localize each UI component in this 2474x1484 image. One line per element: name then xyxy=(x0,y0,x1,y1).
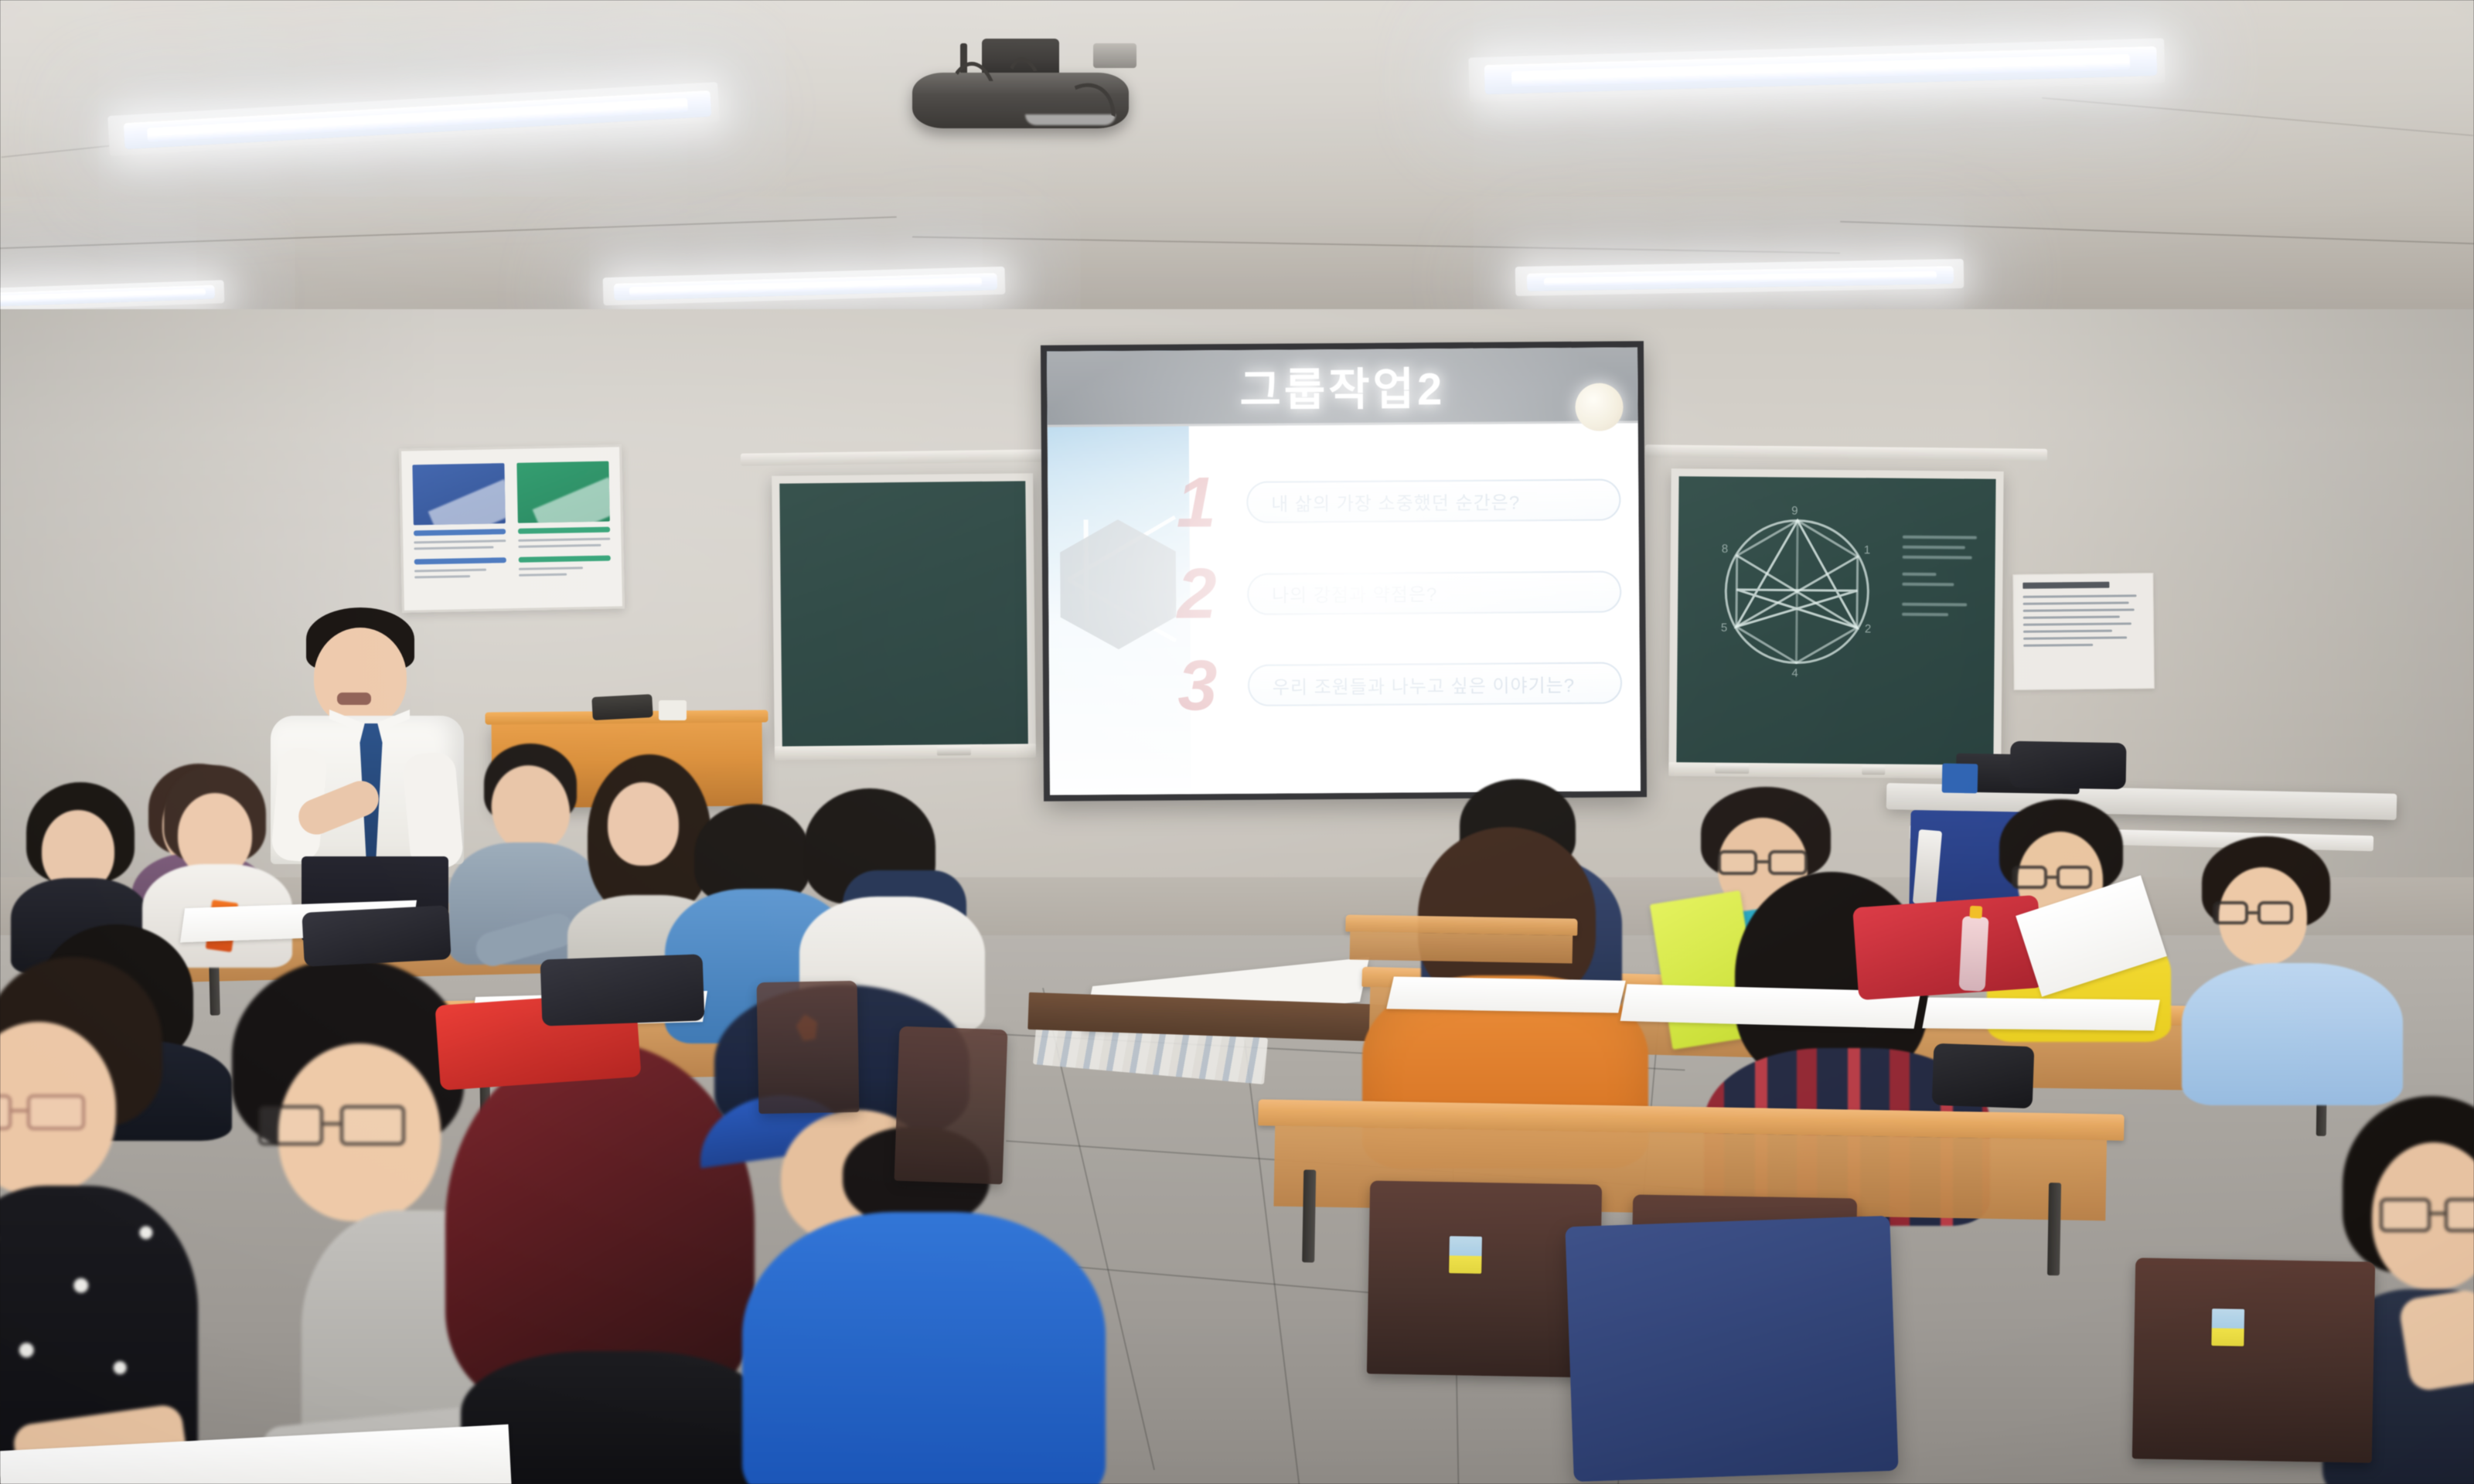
wall-poster-pair xyxy=(399,444,625,612)
svg-text:8: 8 xyxy=(1722,543,1728,556)
projector-mount-bracket xyxy=(1093,43,1136,68)
worksheet-paper xyxy=(1386,976,1626,1013)
slide-bullet-pill: 우리 조원들과 나누고 싶은 이야기는? xyxy=(1248,662,1623,706)
chair-sticker xyxy=(2211,1309,2244,1346)
svg-text:1: 1 xyxy=(1864,543,1870,556)
presenter xyxy=(271,608,472,940)
arm-right xyxy=(402,751,465,870)
mouth xyxy=(337,693,371,705)
glasses-icon xyxy=(2012,866,2092,889)
poster-header-green xyxy=(516,461,610,523)
chair-far-right xyxy=(2132,1258,2375,1462)
poster-rule xyxy=(518,527,611,534)
slide-bullet-row: 1 내 삶의 가장 소중했던 순간은? xyxy=(1166,459,1621,543)
poster-rule xyxy=(518,556,611,563)
slide-title-bar: 그룹작업2 xyxy=(1047,347,1638,427)
poster-right xyxy=(516,461,612,594)
slide-bullet-row: 2 나의 강점과 약점은? xyxy=(1167,551,1622,635)
av-equipment-blue-item xyxy=(1942,764,1978,794)
slide-bullet-row: 3 우리 조원들과 나누고 싶은 이야기는? xyxy=(1167,642,1622,727)
chalk-piece xyxy=(1862,765,1885,774)
chalk-tray-left xyxy=(775,744,1036,761)
slide-bullet-text: 나의 강점과 약점은? xyxy=(1272,579,1438,607)
poster-rule xyxy=(414,529,506,536)
svg-text:9: 9 xyxy=(1791,504,1798,517)
poster-body-text xyxy=(518,538,611,552)
slide-bullet-pill: 내 삶의 가장 소중했던 순간은? xyxy=(1246,479,1621,523)
slide-number: 3 xyxy=(1167,645,1228,727)
empty-chair-left-2 xyxy=(757,981,860,1114)
eraser xyxy=(1715,764,1749,774)
backpack xyxy=(1565,1216,1898,1482)
student-s11 xyxy=(665,980,1098,1484)
poster-body-text xyxy=(414,539,506,553)
worksheet-paper xyxy=(1922,997,2159,1030)
black-bag-on-desk xyxy=(540,954,705,1026)
slide-bullet-pill: 나의 강점과 약점은? xyxy=(1247,570,1622,614)
poster-body-text xyxy=(414,568,507,582)
glasses-icon xyxy=(2213,901,2293,924)
chalkboard-left xyxy=(772,473,1036,748)
poster-left xyxy=(412,463,507,596)
presentation-slide: 그룹작업2 1 내 삶의 가장 소중했던 순간은? 2 나의 강점과 약점은? xyxy=(1047,347,1641,795)
slide-number: 2 xyxy=(1167,553,1228,635)
svg-text:4: 4 xyxy=(1791,667,1798,680)
blue-tshirt xyxy=(742,1212,1106,1484)
black-bag-on-desk xyxy=(302,905,451,967)
student-s17 xyxy=(2182,836,2406,1068)
wall-notice-paper xyxy=(2012,573,2155,690)
bag-on-cart xyxy=(2009,741,2126,790)
cup-on-lectern xyxy=(659,700,687,720)
slide-number: 1 xyxy=(1166,462,1227,544)
water-bottle xyxy=(1959,916,1989,992)
item-on-lectern xyxy=(591,694,653,720)
chalkboard-right-surface: 912 458 xyxy=(1676,476,1995,767)
chair-sticker xyxy=(1449,1236,1482,1274)
desk-small-back xyxy=(1344,914,1577,972)
projection-screen: 그룹작업2 1 내 삶의 가장 소중했던 순간은? 2 나의 강점과 약점은? xyxy=(1041,341,1647,801)
chalkboard-left-surface xyxy=(779,481,1028,747)
poster-header-blue xyxy=(412,463,506,525)
classroom-photo: 912 458 그룹작업2 xyxy=(0,0,2474,1484)
svg-text:5: 5 xyxy=(1721,621,1727,635)
glasses-icon xyxy=(258,1105,405,1145)
eraser xyxy=(937,746,971,755)
chalkboard-right: 912 458 xyxy=(1668,468,2003,767)
glasses-icon xyxy=(0,1094,85,1130)
poster-body-text xyxy=(519,567,612,580)
slide-badge-graphic xyxy=(1575,383,1623,431)
enneagram-chalk-drawing: 912 458 xyxy=(1705,503,1892,682)
empty-chair-left xyxy=(895,1026,1008,1185)
slide-bullet-text: 우리 조원들과 나누고 싶은 이야기는? xyxy=(1273,670,1575,699)
poster-rule xyxy=(414,557,507,564)
glasses-icon xyxy=(2380,1198,2474,1232)
svg-text:2: 2 xyxy=(1865,622,1871,635)
slide-bullet-list: 1 내 삶의 가장 소중했던 순간은? 2 나의 강점과 약점은? 3 xyxy=(1166,454,1623,732)
ceiling-projector xyxy=(912,39,1129,185)
pencil-case xyxy=(1932,1043,2035,1108)
slide-title: 그룹작업2 xyxy=(1239,352,1445,419)
projection-screen-surface: 그룹작업2 1 내 삶의 가장 소중했던 순간은? 2 나의 강점과 약점은? xyxy=(1047,347,1641,795)
chalkboard-notes xyxy=(1902,536,1977,624)
red-bag xyxy=(1852,895,2044,1000)
slide-bullet-text: 내 삶의 가장 소중했던 순간은? xyxy=(1271,487,1520,516)
